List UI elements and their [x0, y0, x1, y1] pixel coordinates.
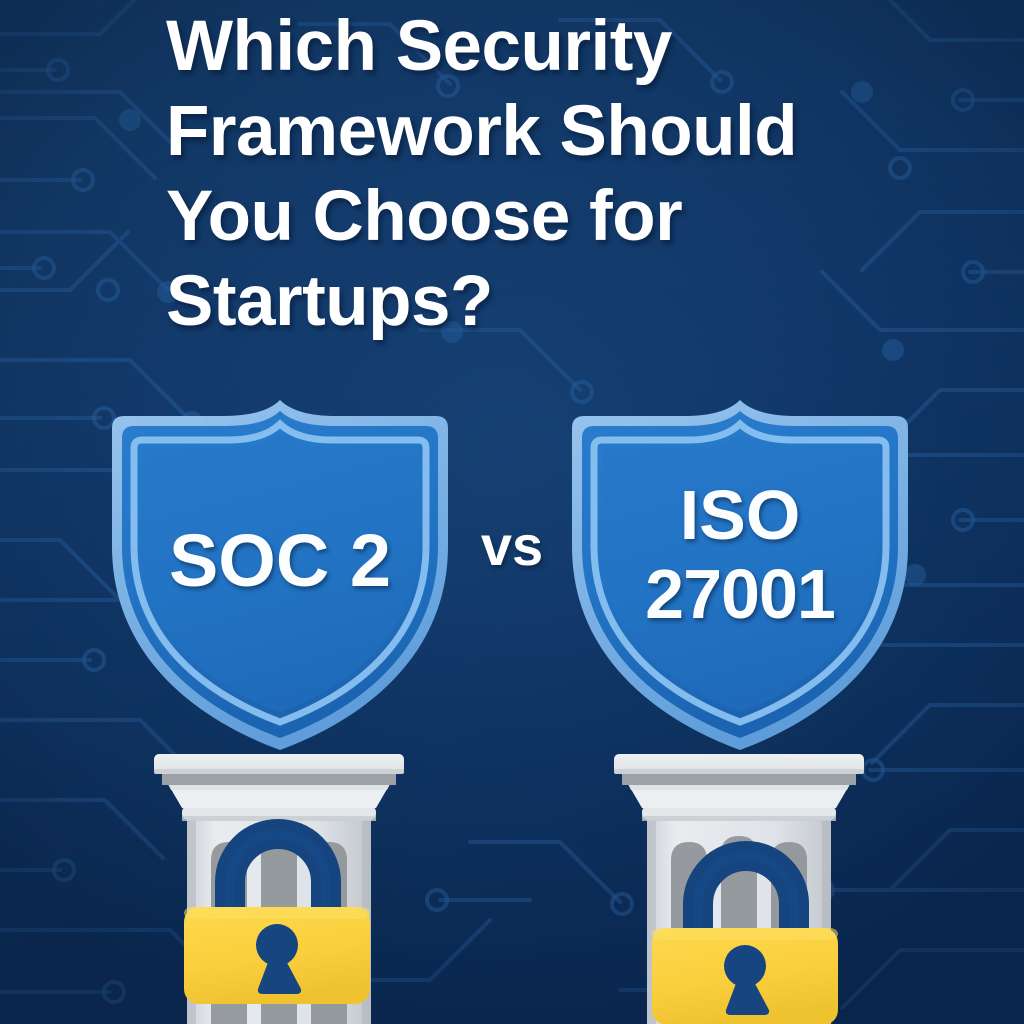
page-title: Which Security Framework Should You Choo… [166, 4, 906, 344]
shield-icon [104, 398, 456, 754]
title-line-4: Startups? [166, 259, 906, 344]
pillar-with-padlock-icon [140, 750, 418, 1024]
versus-label: vs [460, 516, 564, 576]
title-line-2: Framework Should [166, 89, 906, 174]
pedestal-left [140, 750, 418, 1024]
title-line-1: Which Security [166, 4, 906, 89]
pedestal-right [600, 750, 878, 1024]
title-line-3: You Choose for [166, 174, 906, 259]
infographic-canvas: Which Security Framework Should You Choo… [0, 0, 1024, 1024]
framework-card-soc2[interactable]: SOC 2 [104, 398, 456, 754]
pillar-with-padlock-icon [600, 750, 878, 1024]
framework-card-iso27001[interactable]: ISO 27001 [564, 398, 916, 754]
shield-icon [564, 398, 916, 754]
